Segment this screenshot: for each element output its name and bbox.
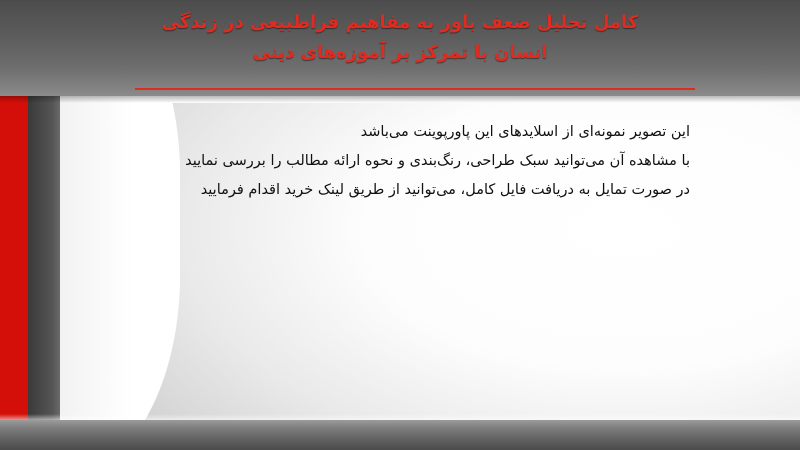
slide-title: کامل تحلیل ضعف باور به مفاهیم فراطبیعی د… [60, 8, 740, 67]
slide-body-text: این تصویر نمونه‌ای از اسلایدهای این پاور… [80, 118, 690, 205]
slide-body-line-3: در صورت تمایل به دریافت فایل کامل، می‌تو… [80, 176, 690, 205]
slide-title-line-1: کامل تحلیل ضعف باور به مفاهیم فراطبیعی د… [60, 8, 740, 38]
slide-title-underline [135, 88, 695, 90]
slide-header-shadow [0, 96, 800, 103]
slide-footer-band [0, 420, 800, 450]
slide-body-line-2: با مشاهده آن می‌توانید سبک طراحی، رنگ‌بن… [80, 147, 690, 176]
slide: کامل تحلیل ضعف باور به مفاهیم فراطبیعی د… [0, 0, 800, 450]
slide-body-line-1: این تصویر نمونه‌ای از اسلایدهای این پاور… [80, 118, 690, 147]
slide-title-line-2: انسان با تمرکز بر آموزه‌های دینی [60, 38, 740, 68]
